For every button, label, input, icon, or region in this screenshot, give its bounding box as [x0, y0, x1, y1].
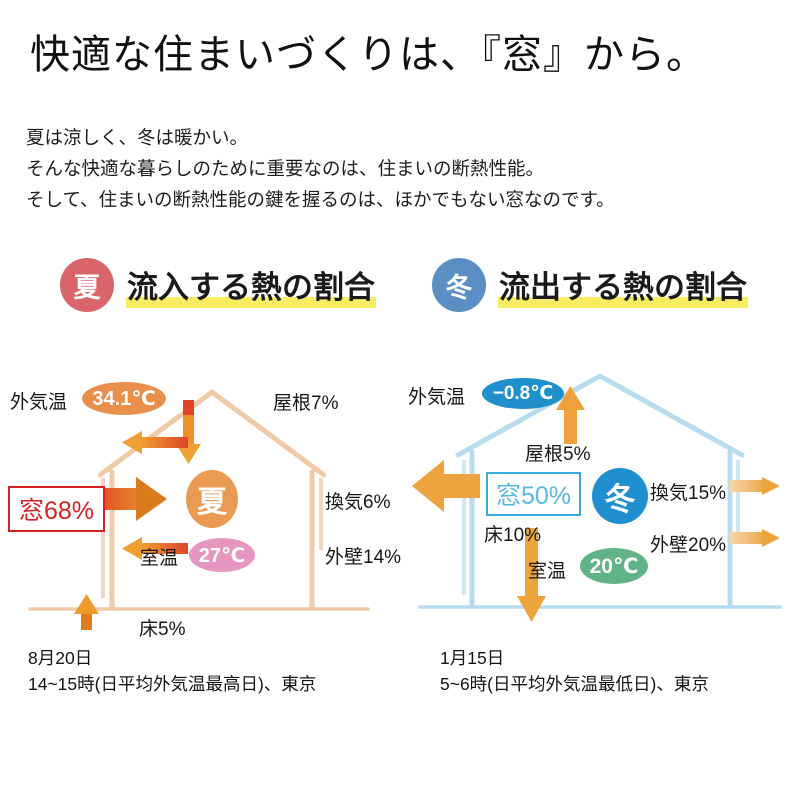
lead-paragraph: 夏は涼しく、冬は暖かい。 そんな快適な暮らしのために重要なのは、住まいの断熱性能… [26, 122, 615, 215]
winter-badge-icon: 冬 [432, 258, 486, 312]
summer-center-mark: 夏 [186, 470, 238, 528]
summer-caption: 8月20日 14~15時(日平均外気温最高日)、東京 [28, 645, 316, 697]
winter-house-diagram: 外気温 −0.8℃ 屋根5% 換気15% 外壁20% 床10% 冬 室温 20℃… [400, 360, 800, 630]
winter-section-title: 流出する熱の割合 [496, 262, 750, 309]
winter-caption-detail: 5~6時(日平均外気温最低日)、東京 [440, 671, 709, 697]
summer-wall-label: 外壁14% [325, 542, 401, 569]
winter-section-title-text: 流出する熱の割合 [499, 270, 747, 305]
summer-window-share: 窓68% [8, 486, 105, 532]
summer-caption-date: 8月20日 [28, 645, 316, 671]
summer-floor-label: 床5% [139, 614, 185, 641]
winter-room-temp-value: 20℃ [580, 548, 648, 584]
floor-arrow-up [74, 594, 99, 630]
summer-room-temp-value: 27℃ [189, 538, 255, 572]
summer-section-title-text: 流入する熱の割合 [127, 270, 375, 305]
lead-line-1: 夏は涼しく、冬は暖かい。 [26, 122, 615, 153]
summer-outside-temp-value: 34.1℃ [82, 382, 166, 415]
infographic-page: 快適な住まいづくりは、『窓』から。 夏は涼しく、冬は暖かい。 そんな快適な暮らし… [0, 0, 800, 800]
winter-caption: 1月15日 5~6時(日平均外気温最低日)、東京 [440, 645, 709, 697]
winter-outside-temp-label: 外気温 [408, 382, 465, 409]
winter-room-temp-label: 室温 [528, 556, 566, 583]
winter-outside-temp-value: −0.8℃ [482, 378, 564, 409]
winter-wall-label: 外壁20% [650, 530, 726, 557]
summer-caption-detail: 14~15時(日平均外気温最高日)、東京 [28, 671, 316, 697]
page-title: 快適な住まいづくりは、『窓』から。 [30, 22, 707, 80]
winter-center-mark: 冬 [592, 468, 648, 524]
lead-line-3: そして、住まいの断熱性能の鍵を握るのは、ほかでもない窓なのです。 [26, 184, 615, 215]
summer-house-diagram: 外気温 34.1℃ 屋根7% 換気6% 外壁14% 床5% 夏 室温 27℃ 窓… [0, 360, 400, 630]
summer-roof-label: 屋根7% [273, 388, 338, 415]
roof-arrow-down [176, 400, 201, 464]
winter-caption-date: 1月15日 [440, 645, 709, 671]
summer-vent-label: 換気6% [325, 487, 390, 514]
winter-section-heading: 冬 流出する熱の割合 [432, 258, 750, 312]
winter-vent-label: 換気15% [650, 478, 726, 505]
winter-roof-label: 屋根5% [525, 439, 590, 466]
summer-section-heading: 夏 流入する熱の割合 [60, 258, 378, 312]
summer-section-title: 流入する熱の割合 [124, 262, 378, 309]
summer-badge-icon: 夏 [60, 258, 114, 312]
winter-floor-label: 床10% [484, 520, 541, 547]
summer-room-temp-label: 室温 [140, 543, 178, 570]
winter-window-share: 窓50% [486, 472, 581, 516]
summer-outside-temp-label: 外気温 [10, 387, 67, 414]
lead-line-2: そんな快適な暮らしのために重要なのは、住まいの断熱性能。 [26, 153, 615, 184]
